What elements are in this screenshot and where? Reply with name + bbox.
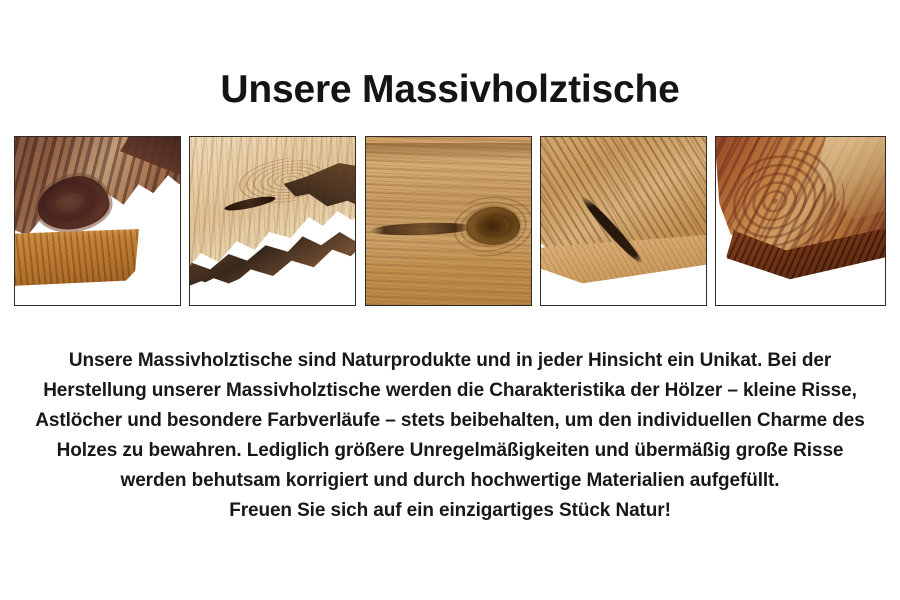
wood-detail-image-acacia-live-edge	[190, 137, 355, 305]
photo-3-shadow-band	[366, 143, 531, 161]
body-line: Astlöcher und besondere Farbverläufe – s…	[0, 406, 900, 436]
body-line: werden behutsam korrigiert und durch hoc…	[0, 466, 900, 496]
gallery-photo-2[interactable]	[189, 136, 356, 306]
gallery-photo-1[interactable]	[14, 136, 181, 306]
wood-detail-image-rosewood-corner	[716, 137, 885, 305]
gallery-photo-5[interactable]	[715, 136, 886, 306]
photo-1-knot-core	[54, 191, 87, 214]
wood-detail-image-rough-sawn-crack	[541, 137, 706, 305]
photo-1-edge-grain	[15, 229, 139, 289]
body-paragraph: Unsere Massivholztische sind Naturproduk…	[0, 346, 900, 526]
gallery-photo-4[interactable]	[540, 136, 707, 306]
body-line: Herstellung unserer Massivholztische wer…	[0, 376, 900, 406]
gallery-photo-3[interactable]	[365, 136, 532, 306]
photo-1-cut-edge	[15, 229, 139, 289]
wood-detail-image-grain-knot	[366, 137, 531, 305]
wood-detail-image-sheesham-knot	[15, 137, 180, 305]
body-line: Freuen Sie sich auf ein einzigartiges St…	[0, 496, 900, 526]
body-line: Holzes zu bewahren. Lediglich größere Un…	[0, 436, 900, 466]
body-line: Unsere Massivholztische sind Naturproduk…	[0, 346, 900, 376]
photo-3-knot-eye	[479, 216, 507, 237]
wood-detail-gallery	[14, 136, 886, 306]
page-title: Unsere Massivholztische	[0, 68, 900, 112]
